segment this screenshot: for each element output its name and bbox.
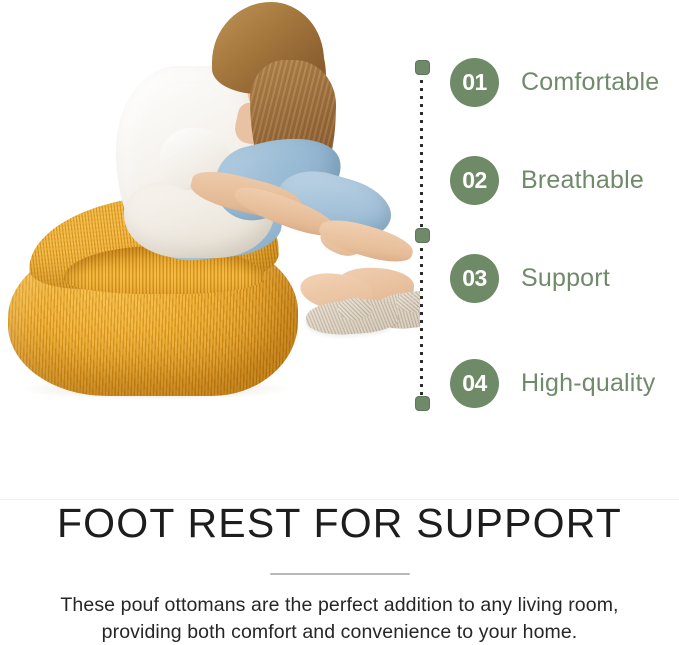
timeline-marker-bottom bbox=[415, 396, 430, 411]
top-panel: 01 Comfortable 02 Breathable 03 Support … bbox=[0, 0, 679, 500]
feature-list: 01 Comfortable 02 Breathable 03 Support … bbox=[404, 52, 679, 412]
feature-item-3: 03 Support bbox=[450, 254, 610, 303]
timeline-marker-top bbox=[415, 60, 430, 75]
product-infographic-page: 01 Comfortable 02 Breathable 03 Support … bbox=[0, 0, 679, 645]
feature-number-badge-4: 04 bbox=[450, 359, 499, 408]
description-line-1: These pouf ottomans are the perfect addi… bbox=[14, 592, 665, 619]
product-photo bbox=[0, 0, 420, 470]
page-title: FOOT REST FOR SUPPORT bbox=[0, 500, 679, 546]
timeline-marker-middle bbox=[415, 228, 430, 243]
description-line-2: providing both comfort and convenience t… bbox=[14, 619, 665, 645]
feature-number-badge-3: 03 bbox=[450, 254, 499, 303]
model-person bbox=[0, 0, 420, 470]
feature-label-2: Breathable bbox=[521, 166, 644, 195]
slipper-knot-left bbox=[338, 298, 372, 320]
feature-number-badge-2: 02 bbox=[450, 156, 499, 205]
description-text: These pouf ottomans are the perfect addi… bbox=[14, 592, 665, 645]
feature-item-2: 02 Breathable bbox=[450, 156, 644, 205]
title-underline-rule bbox=[270, 573, 410, 575]
feature-label-4: High-quality bbox=[521, 369, 655, 398]
feature-number-badge-1: 01 bbox=[450, 58, 499, 107]
feature-item-4: 04 High-quality bbox=[450, 359, 655, 408]
feature-label-3: Support bbox=[521, 264, 610, 293]
bottom-panel: FOOT REST FOR SUPPORT These pouf ottoman… bbox=[0, 500, 679, 645]
feature-item-1: 01 Comfortable bbox=[450, 58, 659, 107]
feature-label-1: Comfortable bbox=[521, 68, 659, 97]
